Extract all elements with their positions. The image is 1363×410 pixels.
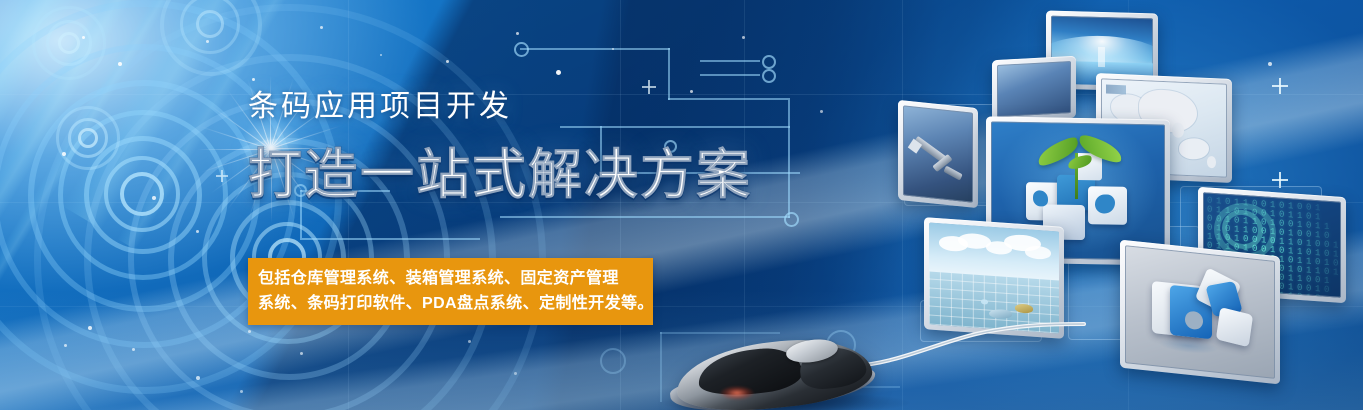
banner-copy: 条码应用项目开发 打造一站式解决方案: [248, 92, 708, 202]
binary-digit: 1: [1288, 292, 1293, 298]
bluepanel-monitor-screen: [997, 61, 1071, 117]
mouse-led-glow: [720, 386, 754, 400]
banner-eyebrow: 条码应用项目开发: [248, 92, 708, 122]
banner-headline: 打造一站式解决方案: [248, 148, 708, 202]
binary-digit: 0: [1315, 294, 1320, 298]
chart-monitor[interactable]: [898, 100, 978, 208]
bluepanel-monitor[interactable]: [992, 56, 1076, 122]
chart-monitor-screen: [903, 105, 973, 202]
binary-digit: 1: [1333, 268, 1338, 277]
mouse-cable-icon: [848, 322, 1088, 392]
puzzle-monitor[interactable]: [1120, 240, 1280, 385]
puzzle-monitor-screen: [1125, 245, 1275, 379]
caption-line-1: 包括仓库管理系统、装箱管理系统、固定资产管理: [258, 266, 643, 291]
cloud-monitor[interactable]: [924, 217, 1064, 339]
feature-caption-box: 包括仓库管理系统、装箱管理系统、固定资产管理 系统、条码打印软件、PDA盘点系统…: [248, 258, 653, 325]
binary-digit: 0: [1297, 293, 1302, 298]
promo-banner: 条码应用项目开发 打造一站式解决方案 包括仓库管理系统、装箱管理系统、固定资产管…: [0, 0, 1363, 410]
binary-digit: 0: [1324, 286, 1329, 295]
binary-digit: 1: [1306, 293, 1311, 297]
caption-line-2: 系统、条码打印软件、PDA盘点系统、定制性开发等。: [258, 291, 643, 316]
cloud-monitor-screen: [929, 222, 1059, 333]
computer-mouse[interactable]: [668, 328, 886, 410]
